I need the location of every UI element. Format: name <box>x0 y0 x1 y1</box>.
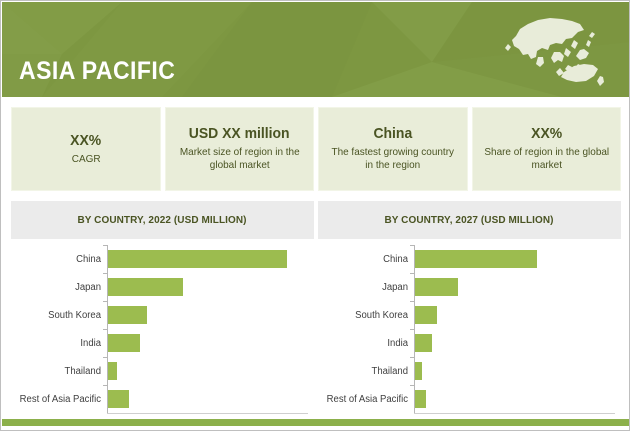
stat-value: XX% <box>70 132 101 151</box>
stat-caption: CAGR <box>71 153 100 167</box>
chart-tick <box>103 273 108 274</box>
page-title: ASIA PACIFIC <box>19 57 175 86</box>
stat-box-row: XX% CAGR USD XX million Market size of r… <box>11 107 621 191</box>
chart-row: Japan <box>318 278 621 296</box>
chart-bar <box>108 278 183 296</box>
chart-category-label: India <box>323 338 409 349</box>
chart-category-label: Thailand <box>16 366 102 377</box>
chart-bar <box>415 390 426 408</box>
chart-category-label: South Korea <box>16 310 102 321</box>
stat-caption: Share of region in the global market <box>482 146 611 173</box>
chart-bar <box>108 390 129 408</box>
chart-tick <box>410 273 415 274</box>
stat-box-cagr: XX% CAGR <box>11 107 161 191</box>
chart-bar <box>415 334 432 352</box>
chart-tick <box>103 357 108 358</box>
chart-panel-2022: BY COUNTRY, 2022 (USD MILLION) ChinaJapa… <box>11 201 314 419</box>
chart-row: India <box>318 334 621 352</box>
chart-bar <box>108 334 140 352</box>
chart-panel-header-2027: BY COUNTRY, 2027 (USD MILLION) <box>318 201 621 239</box>
chart-row: Rest of Asia Pacific <box>318 390 621 408</box>
chart-row: Japan <box>11 278 314 296</box>
chart-panel-2027: BY COUNTRY, 2027 (USD MILLION) ChinaJapa… <box>318 201 621 419</box>
chart-row: China <box>318 250 621 268</box>
chart-bar <box>415 306 437 324</box>
stat-caption: Market size of region in the global mark… <box>175 146 304 173</box>
chart-category-label: China <box>16 254 102 265</box>
stat-box-share: XX% Share of region in the global market <box>472 107 622 191</box>
chart-bar <box>415 250 537 268</box>
bar-chart-2022: ChinaJapanSouth KoreaIndiaThailandRest o… <box>11 239 314 419</box>
chart-tick <box>410 385 415 386</box>
header-banner: ASIA PACIFIC <box>2 2 630 97</box>
chart-panel-title: BY COUNTRY, 2027 (USD MILLION) <box>385 214 554 226</box>
chart-tick <box>103 245 108 246</box>
chart-row: India <box>11 334 314 352</box>
stat-box-market-size: USD XX million Market size of region in … <box>165 107 315 191</box>
bar-chart-2027: ChinaJapanSouth KoreaIndiaThailandRest o… <box>318 239 621 419</box>
chart-category-label: India <box>16 338 102 349</box>
chart-row: Thailand <box>318 362 621 380</box>
chart-category-label: Thailand <box>323 366 409 377</box>
chart-row: Rest of Asia Pacific <box>11 390 314 408</box>
chart-panel-header-2022: BY COUNTRY, 2022 (USD MILLION) <box>11 201 314 239</box>
chart-tick <box>410 329 415 330</box>
chart-bar <box>108 306 147 324</box>
footer-accent-band <box>2 419 630 426</box>
chart-baseline <box>414 413 615 414</box>
stat-value: China <box>373 125 412 144</box>
chart-bar <box>108 250 287 268</box>
chart-row: China <box>11 250 314 268</box>
infographic-page: ASIA PACIFIC XX% CAGR <box>0 0 630 431</box>
chart-tick <box>103 301 108 302</box>
chart-category-label: Japan <box>16 282 102 293</box>
stat-value: USD XX million <box>189 125 290 144</box>
chart-panel-row: BY COUNTRY, 2022 (USD MILLION) ChinaJapa… <box>11 201 621 419</box>
chart-bar <box>415 362 422 380</box>
chart-tick <box>410 357 415 358</box>
chart-tick <box>410 301 415 302</box>
chart-bar <box>108 362 117 380</box>
chart-panel-title: BY COUNTRY, 2022 (USD MILLION) <box>78 214 247 226</box>
chart-category-label: South Korea <box>323 310 409 321</box>
chart-category-label: Japan <box>323 282 409 293</box>
chart-tick <box>103 385 108 386</box>
chart-row: South Korea <box>11 306 314 324</box>
chart-baseline <box>107 413 308 414</box>
stat-value: XX% <box>531 125 562 144</box>
chart-tick <box>103 329 108 330</box>
chart-category-label: China <box>323 254 409 265</box>
chart-category-label: Rest of Asia Pacific <box>16 394 102 405</box>
chart-category-label: Rest of Asia Pacific <box>323 394 409 405</box>
stat-caption: The fastest growing country in the regio… <box>328 146 457 173</box>
stat-box-fastest-country: China The fastest growing country in the… <box>318 107 468 191</box>
chart-bar <box>415 278 458 296</box>
chart-row: Thailand <box>11 362 314 380</box>
asia-pacific-map-icon <box>492 10 612 90</box>
chart-rows: ChinaJapanSouth KoreaIndiaThailandRest o… <box>11 245 314 413</box>
chart-rows: ChinaJapanSouth KoreaIndiaThailandRest o… <box>318 245 621 413</box>
chart-row: South Korea <box>318 306 621 324</box>
chart-tick <box>410 245 415 246</box>
